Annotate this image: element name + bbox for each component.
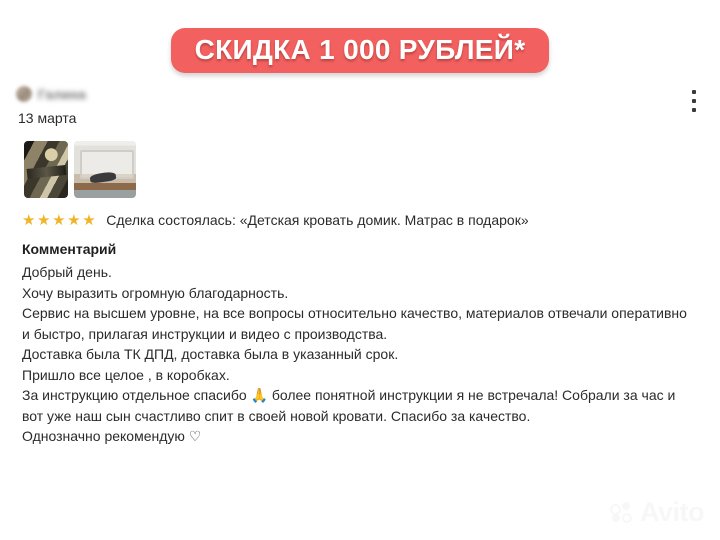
review-comment: Комментарий Добрый день. Хочу выразить о… [22,239,698,447]
avatar [16,86,32,102]
kebab-dot [692,99,696,103]
photo-image [24,141,68,198]
kebab-dot [692,90,696,94]
review-date: 13 марта [18,110,76,126]
promo-banner: СКИДКА 1 000 РУБЛЕЙ* [0,28,720,73]
more-options-icon[interactable] [686,88,702,114]
comment-heading: Комментарий [22,239,698,259]
review-photo-list [24,141,136,198]
comment-line: За инструкцию отдельное спасибо 🙏 более … [22,385,698,426]
promo-badge-label: СКИДКА 1 000 РУБЛЕЙ* [171,28,550,73]
comment-line: Доставка была ТК ДПД, доставка была в ук… [22,344,698,365]
comment-line: Добрый день. [22,262,698,283]
rating-stars: ★★★★★ [22,213,97,228]
review-author-name: Галина [38,87,86,102]
deal-title: Сделка состоялась: «Детская кровать доми… [106,212,528,228]
review-photo-thumbnail[interactable] [74,141,136,198]
avito-logo-icon [610,502,636,524]
avito-watermark-text: Avito [640,499,704,526]
comment-line: Пришло все целое , в коробках. [22,365,698,386]
review-photo-thumbnail[interactable] [24,141,68,198]
comment-line: Однозначно рекомендую ♡ [22,426,698,447]
comment-line: Сервис на высшем уровне, на все вопросы … [22,303,698,344]
kebab-dot [692,108,696,112]
avito-watermark: Avito [610,499,704,526]
rating-row: ★★★★★ Сделка состоялась: «Детская кроват… [22,212,529,228]
comment-line: Хочу выразить огромную благодарность. [22,283,698,304]
photo-image [74,141,136,198]
review-author-row[interactable]: Галина [16,86,86,102]
